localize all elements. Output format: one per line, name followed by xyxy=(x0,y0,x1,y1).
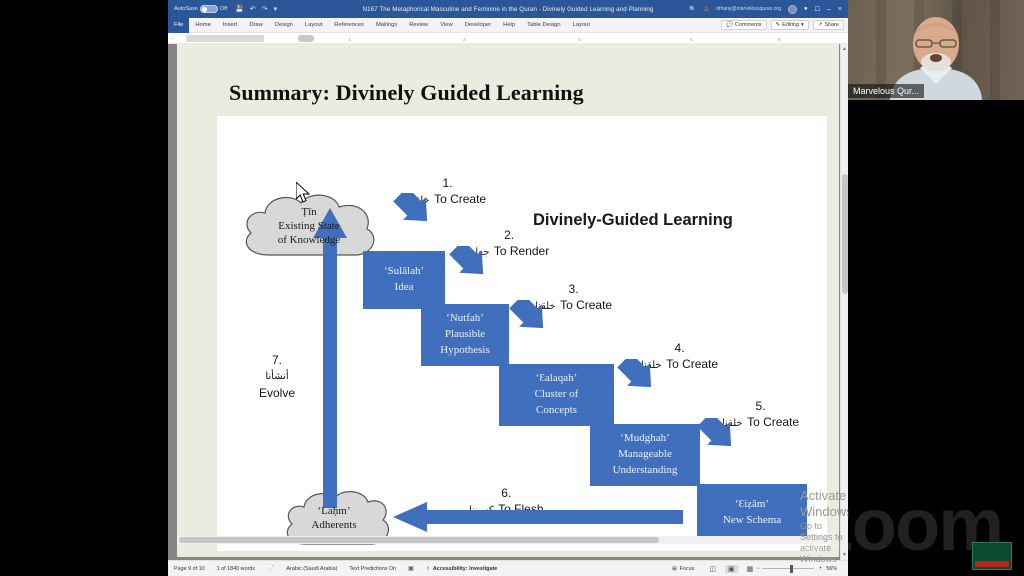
comments-label: Comments xyxy=(735,22,762,28)
chevron-down-icon: ▾ xyxy=(801,22,804,28)
document-area[interactable]: Summary: Divinely Guided Learning Divine… xyxy=(168,44,848,560)
slide-thumbnail[interactable] xyxy=(972,542,1012,570)
tin-cloud-line-1: Ṭīn xyxy=(278,206,341,220)
arrow-3-icon xyxy=(509,300,555,342)
participant-name-label: Marvelous Qur... xyxy=(848,84,924,98)
ribbon-tab-view[interactable]: View xyxy=(434,18,458,33)
accessibility-icon: ☿ xyxy=(426,566,430,572)
quick-access-toolbar[interactable]: 💾 ↶ ↷ ▾ xyxy=(235,5,277,13)
diagram-heading: Divinely-Guided Learning xyxy=(533,211,733,230)
redo-icon[interactable]: ↷ xyxy=(262,5,268,13)
arrow-1-icon xyxy=(393,193,439,235)
ruler-tick-1: 1 xyxy=(348,37,351,42)
tin-cloud-line-3: of Knowledge xyxy=(278,234,341,248)
arrow-4-icon xyxy=(617,359,663,401)
web-layout-icon[interactable]: ▦ xyxy=(744,565,757,573)
comments-button[interactable]: 💬 Comments xyxy=(721,20,766,30)
autosave-switch[interactable] xyxy=(200,5,218,13)
ruler-tick-2: 2 xyxy=(463,37,466,42)
arrow-7-icon xyxy=(313,208,347,508)
alaqah-meaning: Cluster of xyxy=(535,387,579,403)
undo-icon[interactable]: ↶ xyxy=(250,5,256,13)
page-title: Summary: Divinely Guided Learning xyxy=(229,80,584,106)
title-bar: AutoSave Off 💾 ↶ ↷ ▾ N167 The Metaphoric… xyxy=(168,0,848,18)
zoom-level[interactable]: 56% xyxy=(820,566,843,572)
close-button[interactable]: × xyxy=(838,6,842,13)
editing-label: Editing xyxy=(782,22,799,28)
avatar[interactable] xyxy=(788,5,797,14)
warning-icon[interactable]: ⚠ xyxy=(704,6,709,13)
mudghah-term: ‘Mudghah’ xyxy=(620,431,670,447)
mouse-cursor xyxy=(296,182,312,204)
zoom-out-icon[interactable]: − xyxy=(756,566,760,572)
print-layout-icon[interactable]: ▣ xyxy=(725,565,738,573)
activate-windows-title: Activate Windows xyxy=(800,488,848,521)
ribbon-tab-table-layout[interactable]: Layout xyxy=(567,18,596,33)
nutfah-term: ‘Nutfah’ xyxy=(446,311,484,327)
minimize-button[interactable]: – xyxy=(827,6,831,13)
document-page: Summary: Divinely Guided Learning Divine… xyxy=(177,44,839,557)
vertical-scroll-thumb[interactable] xyxy=(842,174,848,294)
share-button[interactable]: ↗ Share xyxy=(813,20,844,30)
pencil-icon: ✎ xyxy=(776,22,781,28)
word-window: AutoSave Off 💾 ↶ ↷ ▾ N167 The Metaphoric… xyxy=(168,0,848,576)
autosave-state: Off xyxy=(220,6,227,12)
step-2-number: 2. xyxy=(469,228,549,242)
step-7-label: 7. أنشأنا Evolve xyxy=(259,351,295,402)
ribbon-right-actions: 💬 Comments ✎ Editing ▾ ↗ Share xyxy=(721,20,848,30)
nutfah-meaning-2: Hypothesis xyxy=(440,343,490,359)
search-icon[interactable]: 🔍 xyxy=(689,6,696,13)
text-predictions-indicator[interactable]: Text Predictions On xyxy=(343,566,402,572)
proofing-icon[interactable]: 📄 xyxy=(261,565,280,572)
activate-windows-subtitle: Go to Settings to activate Windows xyxy=(800,521,848,566)
ruler-tick-4: 4 xyxy=(690,37,693,42)
arrow-2-icon xyxy=(449,246,495,288)
ruler-track[interactable]: 1 2 3 4 5 xyxy=(178,35,848,42)
mudghah-meaning: Manageable xyxy=(618,447,672,463)
nutfah-meaning: Plausible xyxy=(445,327,485,343)
read-mode-icon[interactable]: ◫ xyxy=(706,565,719,573)
restore-icon[interactable]: ☐ xyxy=(815,6,820,13)
ribbon-tab-layout[interactable]: Layout xyxy=(299,18,328,33)
arrow-6-icon xyxy=(393,502,683,532)
ruler-indent-marker[interactable] xyxy=(298,35,314,42)
screen-root: AutoSave Off 💾 ↶ ↷ ▾ N167 The Metaphoric… xyxy=(0,0,1024,576)
step-4-english: To Create xyxy=(666,357,718,371)
ribbon-tab-table-design[interactable]: Table Design xyxy=(521,18,567,33)
title-bar-right: 🔍 ⚠ drhany@marvelousquran.org ● ☐ – × xyxy=(689,5,848,14)
alaqah-box: ‘Ɛalaqah’ Cluster of Concepts xyxy=(499,364,614,426)
ruler-tick-3: 3 xyxy=(578,37,581,42)
editing-button[interactable]: ✎ Editing ▾ xyxy=(771,20,809,30)
ribbon-tab-references[interactable]: References xyxy=(328,18,370,33)
autosave-label: AutoSave xyxy=(174,6,198,12)
ruler-left-margin xyxy=(186,35,264,42)
activate-windows-watermark: Activate Windows Go to Settings to activ… xyxy=(800,488,848,566)
account-email[interactable]: drhany@marvelousquran.org xyxy=(716,6,781,12)
webcam-panel[interactable]: Marvelous Qur... xyxy=(848,0,1024,100)
step-5-number: 5. xyxy=(722,399,799,413)
ribbon-tab-review[interactable]: Review xyxy=(403,18,434,33)
step-4-number: 4. xyxy=(641,341,718,355)
zoom-in-icon[interactable]: + xyxy=(819,566,823,572)
share-label: Share xyxy=(824,22,839,28)
ribbon-tab-design[interactable]: Design xyxy=(269,18,299,33)
step-3-english: To Create xyxy=(560,298,612,312)
izam-term: ‘Ɛiẓām’ xyxy=(735,497,769,513)
step-7-number: 7. xyxy=(259,351,295,369)
track-changes-icon[interactable]: ▣ xyxy=(402,565,420,572)
focus-icon: ⊞ xyxy=(672,566,677,572)
scroll-up-icon[interactable]: ▲ xyxy=(842,46,847,52)
ruler[interactable]: ∟ 1 2 3 4 5 xyxy=(168,33,848,44)
accessibility-label: Accessibility: Investigate xyxy=(433,566,497,572)
chevron-down-icon[interactable]: ▾ xyxy=(274,5,278,13)
focus-button[interactable]: ⊞ Focus xyxy=(666,566,700,572)
ribbon-tab-mailings[interactable]: Mailings xyxy=(370,18,403,33)
page-indicator[interactable]: Page 9 of 10 xyxy=(168,566,211,572)
ribbon-tab-file[interactable]: File xyxy=(168,18,189,33)
step-3-number: 3. xyxy=(535,282,612,296)
step-7-arabic: أنشأنا xyxy=(259,369,295,384)
step-1-english: To Create xyxy=(434,192,486,206)
alaqah-meaning-2: Concepts xyxy=(536,403,577,419)
step-6-number: 6. xyxy=(469,486,544,500)
horizontal-scroll-thumb[interactable] xyxy=(179,537,659,543)
arrow-5-icon xyxy=(697,418,743,460)
lahm-cloud-line-1: ‘Laḥm’ xyxy=(311,505,356,519)
ribbon-tab-insert[interactable]: Insert xyxy=(217,18,244,33)
thumbnail-caption-bar xyxy=(975,561,1009,567)
step-1-number: 1. xyxy=(409,176,486,190)
word-count[interactable]: 1 of 1840 words xyxy=(211,566,261,572)
nutfah-box: ‘Nutfah’ Plausible Hypothesis xyxy=(421,304,509,366)
izam-meaning: New Schema xyxy=(723,513,781,529)
ribbon-display-icon[interactable]: ● xyxy=(804,6,808,12)
comment-icon: 💬 xyxy=(726,22,733,28)
lahm-cloud-line-2: Adherents xyxy=(311,519,356,533)
save-icon[interactable]: 💾 xyxy=(235,5,244,13)
ribbon-tab-developer[interactable]: Developer xyxy=(459,18,497,33)
zoom-thumb[interactable] xyxy=(790,565,793,573)
alaqah-term: ‘Ɛalaqah’ xyxy=(536,371,578,387)
ribbon-tab-draw[interactable]: Draw xyxy=(243,18,269,33)
izam-box: ‘Ɛiẓām’ New Schema xyxy=(697,484,807,542)
mudghah-meaning-2: Understanding xyxy=(613,463,678,479)
share-icon: ↗ xyxy=(818,22,823,28)
mudghah-box: ‘Mudghah’ Manageable Understanding xyxy=(590,424,700,486)
ribbon-tab-help[interactable]: Help xyxy=(497,18,521,33)
step-5-english: To Create xyxy=(747,415,799,429)
focus-label: Focus xyxy=(680,566,695,572)
horizontal-scrollbar[interactable] xyxy=(177,536,832,544)
autosave-toggle[interactable]: AutoSave Off xyxy=(174,5,227,13)
sulalah-term: ‘Sulālah’ xyxy=(384,264,424,280)
status-bar: Page 9 of 10 1 of 1840 words 📄 Arabic (S… xyxy=(168,560,848,576)
ribbon-tab-home[interactable]: Home xyxy=(189,18,216,33)
step-2-english: To Render xyxy=(494,244,549,258)
accessibility-indicator[interactable]: ☿ Accessibility: Investigate xyxy=(420,566,503,572)
step-7-english: Evolve xyxy=(259,384,295,402)
language-indicator[interactable]: Arabic (Saudi Arabia) xyxy=(280,566,343,572)
ribbon-tabs: File Home Insert Draw Design Layout Refe… xyxy=(168,18,848,33)
tin-cloud-line-2: Existing State xyxy=(278,220,341,234)
zoom-slider[interactable]: − + xyxy=(762,565,814,573)
zoom-track[interactable] xyxy=(762,568,814,569)
ruler-tick-5: 5 xyxy=(778,37,781,42)
sulalah-meaning: Idea xyxy=(395,280,414,296)
tab-stop-icon[interactable]: ∟ xyxy=(168,35,178,41)
sulalah-box: ‘Sulālah’ Idea xyxy=(363,251,445,309)
